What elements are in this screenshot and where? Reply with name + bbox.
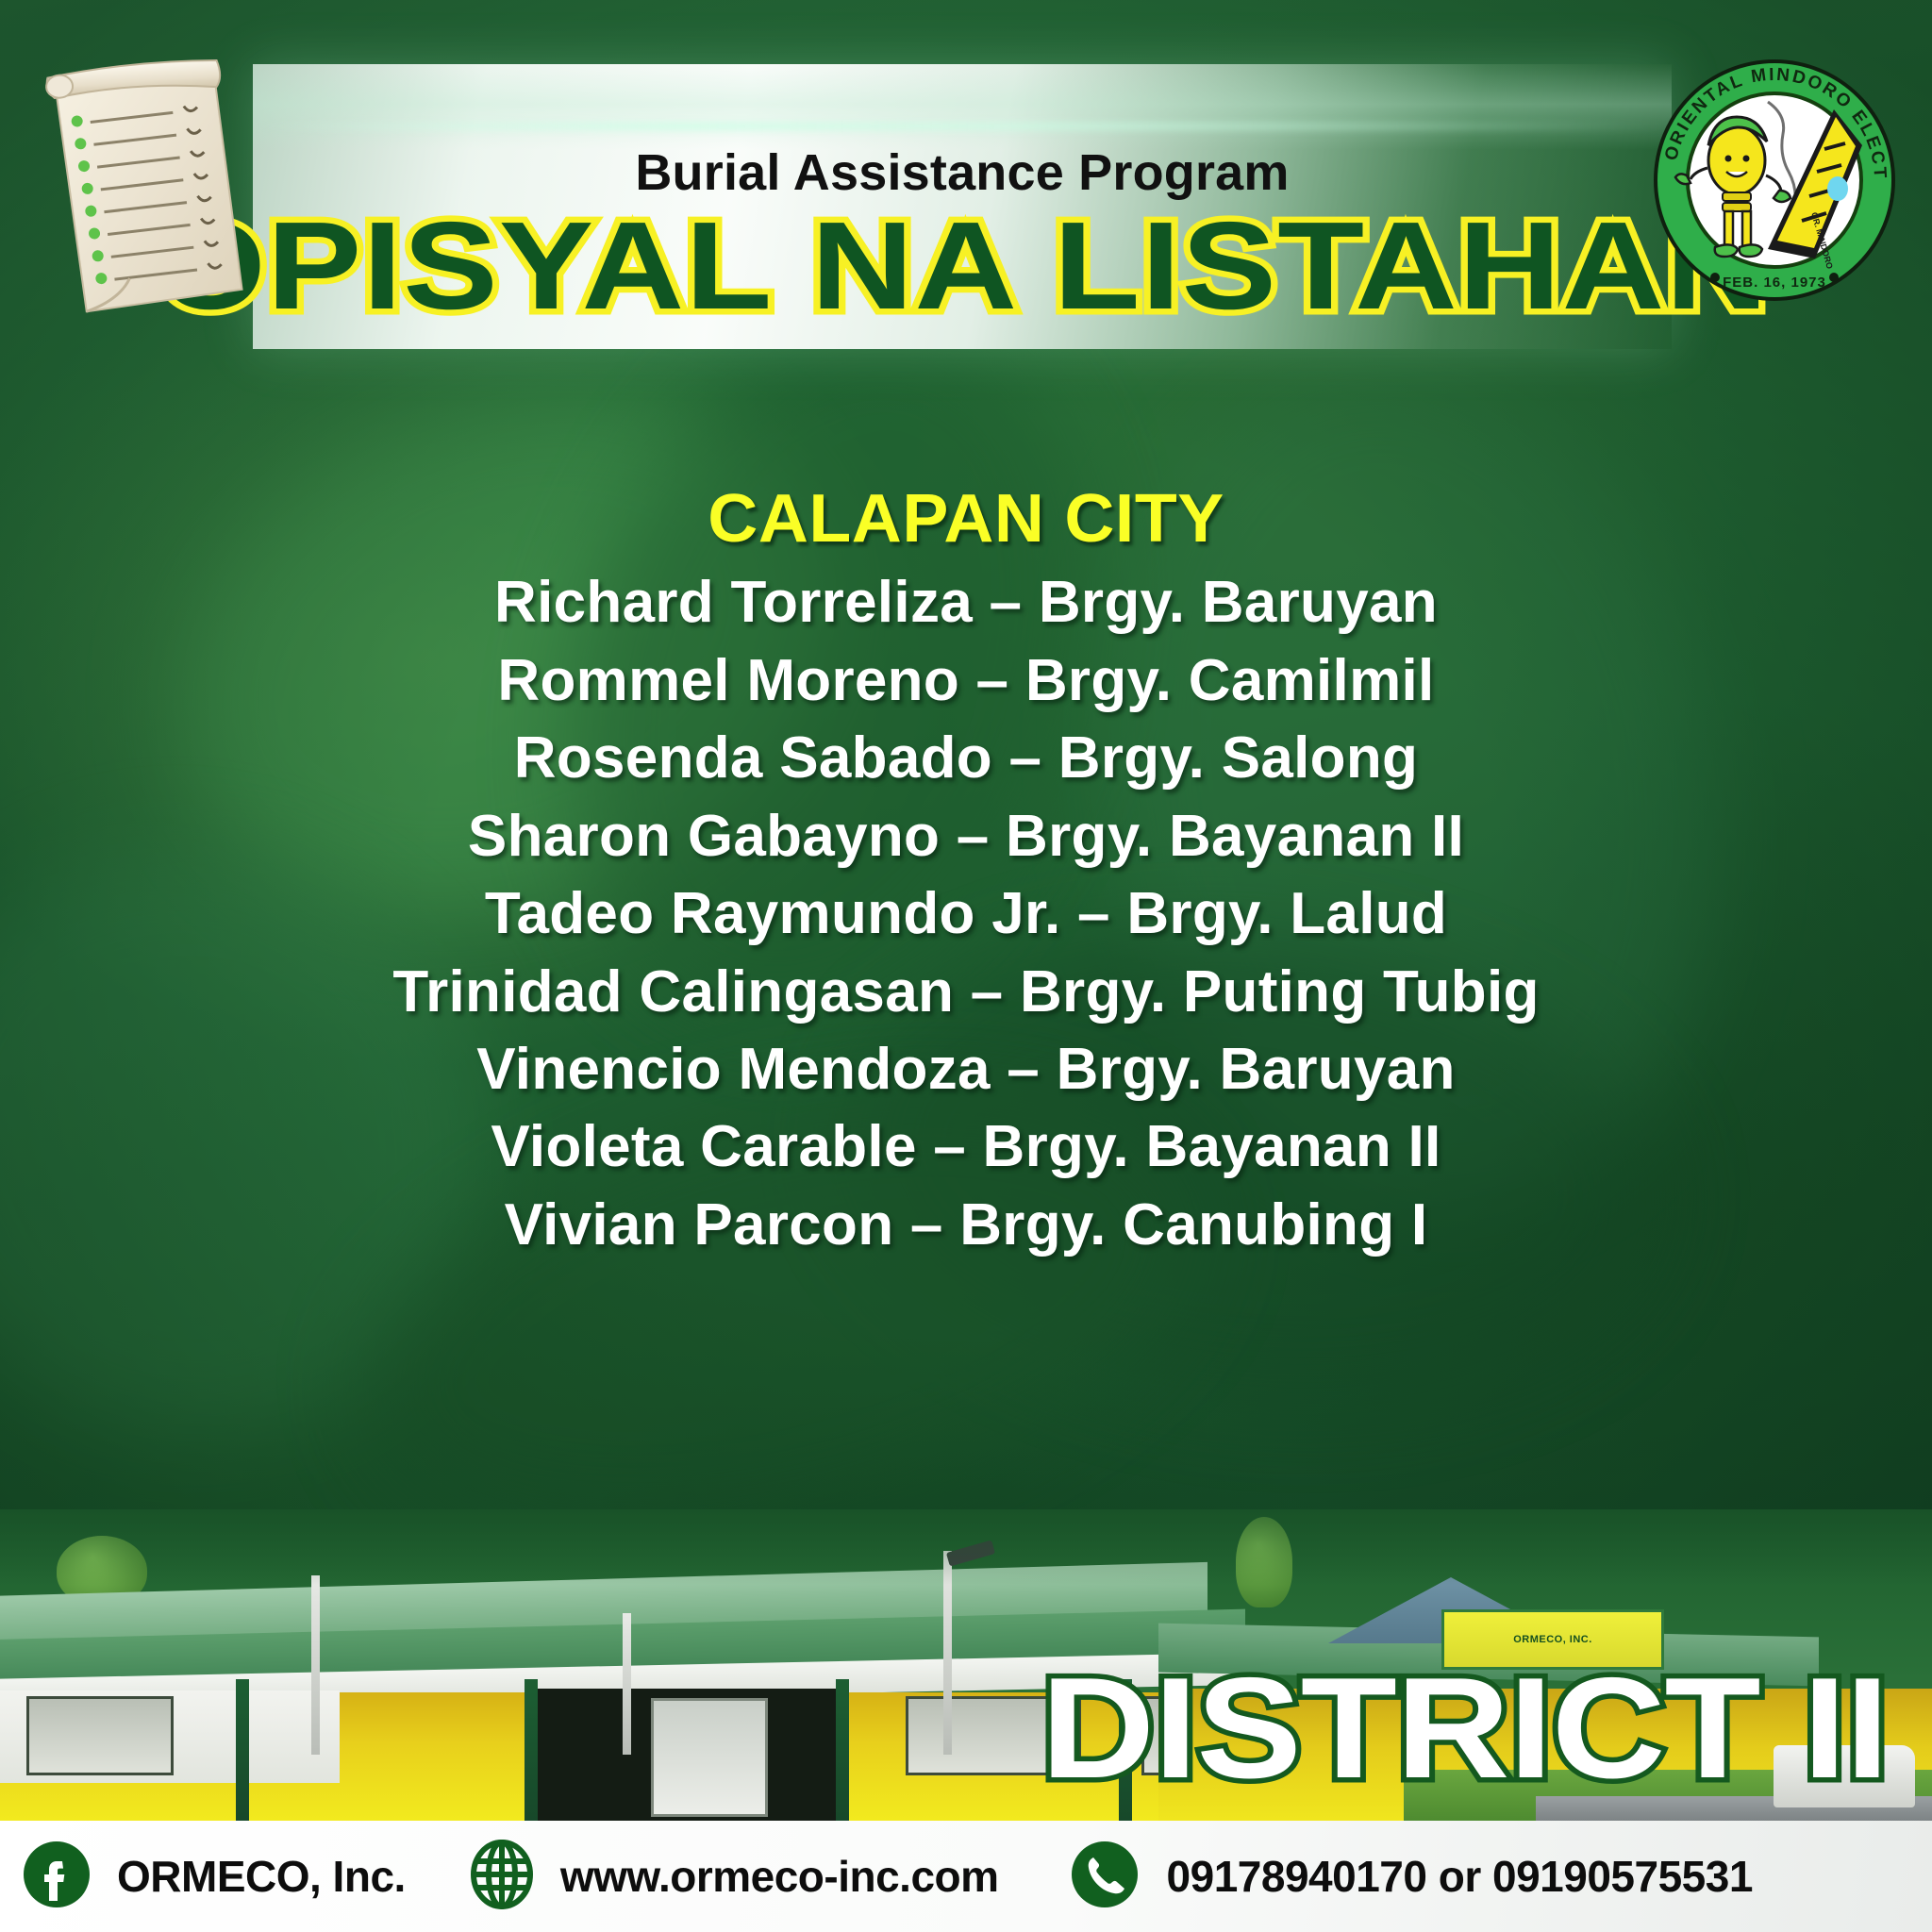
list-item: Violeta Carable – Brgy. Bayanan II <box>0 1108 1932 1186</box>
porch-post <box>836 1679 849 1821</box>
porch-post <box>236 1679 249 1821</box>
header-banner: Burial Assistance Program OPISYAL NA LIS… <box>253 64 1672 349</box>
ormeco-seal-logo: ORIENTAL MINDORO ELECTRIC COOPERATIVE, I… <box>1649 55 1900 306</box>
porch-post <box>525 1679 538 1821</box>
list-item: Vinencio Mendoza – Brgy. Baruyan <box>0 1031 1932 1108</box>
utility-pole <box>311 1575 320 1755</box>
list-item: Vivian Parcon – Brgy. Canubing I <box>0 1187 1932 1264</box>
beneficiary-list: CALAPAN CITY Richard Torreliza – Brgy. B… <box>0 483 1932 1264</box>
list-item: Sharon Gabayno – Brgy. Bayanan II <box>0 798 1932 875</box>
banner-subtitle: Burial Assistance Program <box>253 147 1672 198</box>
phone-icon[interactable] <box>1069 1839 1141 1915</box>
facebook-icon[interactable] <box>21 1839 92 1915</box>
list-item: Rosenda Sabado – Brgy. Salong <box>0 720 1932 797</box>
city-heading: CALAPAN CITY <box>0 483 1932 555</box>
globe-icon[interactable] <box>468 1838 536 1916</box>
banner-title: OPISYAL NA LISTAHAN <box>154 204 1772 328</box>
list-item: Trinidad Calingasan – Brgy. Puting Tubig <box>0 954 1932 1031</box>
district-label: DISTRICT II <box>1041 1657 1889 1800</box>
window <box>26 1696 174 1775</box>
list-item: Tadeo Raymundo Jr. – Brgy. Lalud <box>0 875 1932 953</box>
phone-label[interactable]: 09178940170 or 09190575531 <box>1167 1851 1753 1902</box>
entrance-door <box>651 1698 768 1817</box>
poster-canvas: Burial Assistance Program OPISYAL NA LIS… <box>0 0 1932 1932</box>
contact-footer: ORMECO, Inc. www.ormeco-inc.com 09178940… <box>0 1821 1932 1932</box>
lamp-pole <box>623 1613 631 1755</box>
facebook-label[interactable]: ORMECO, Inc. <box>117 1851 406 1902</box>
list-item: Rommel Moreno – Brgy. Camilmil <box>0 642 1932 720</box>
checklist-scroll-icon <box>27 39 253 317</box>
photo-top-fade <box>0 1509 1932 1585</box>
svg-text:FEB. 16, 1973: FEB. 16, 1973 <box>1723 275 1826 291</box>
list-item: Richard Torreliza – Brgy. Baruyan <box>0 564 1932 641</box>
website-label[interactable]: www.ormeco-inc.com <box>560 1851 999 1902</box>
